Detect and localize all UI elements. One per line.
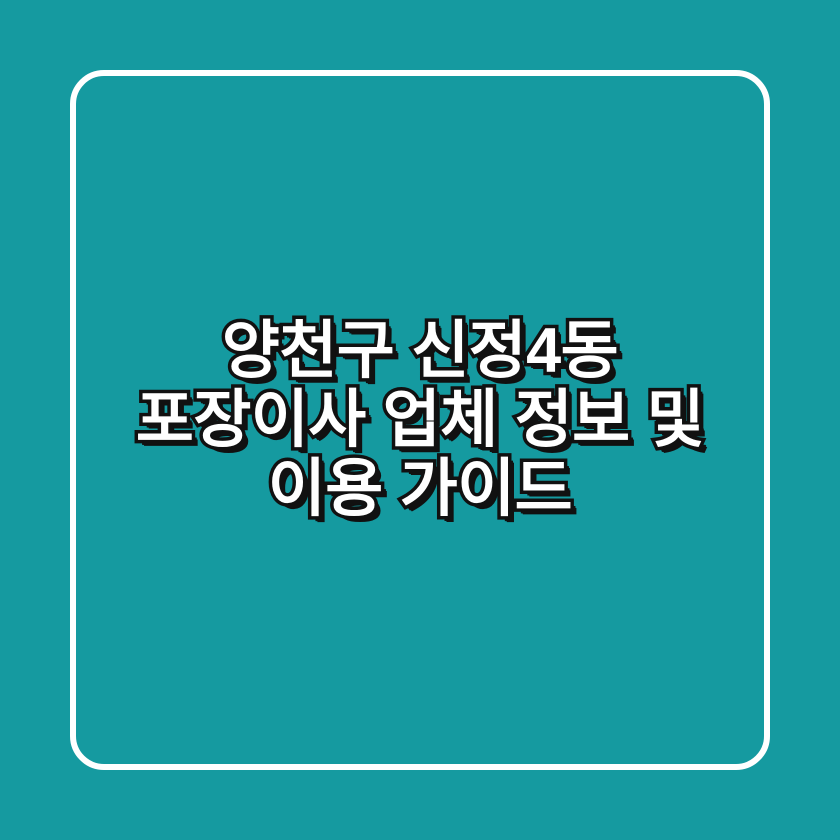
poster-canvas: 양천구 신정4동 포장이사 업체 정보 및 이용 가이드 (0, 0, 840, 840)
title-line-2: 포장이사 업체 정보 및 (80, 386, 760, 455)
title-line-1: 양천구 신정4동 (80, 317, 760, 386)
page-title: 양천구 신정4동 포장이사 업체 정보 및 이용 가이드 (0, 0, 840, 840)
title-line-3: 이용 가이드 (80, 455, 760, 524)
